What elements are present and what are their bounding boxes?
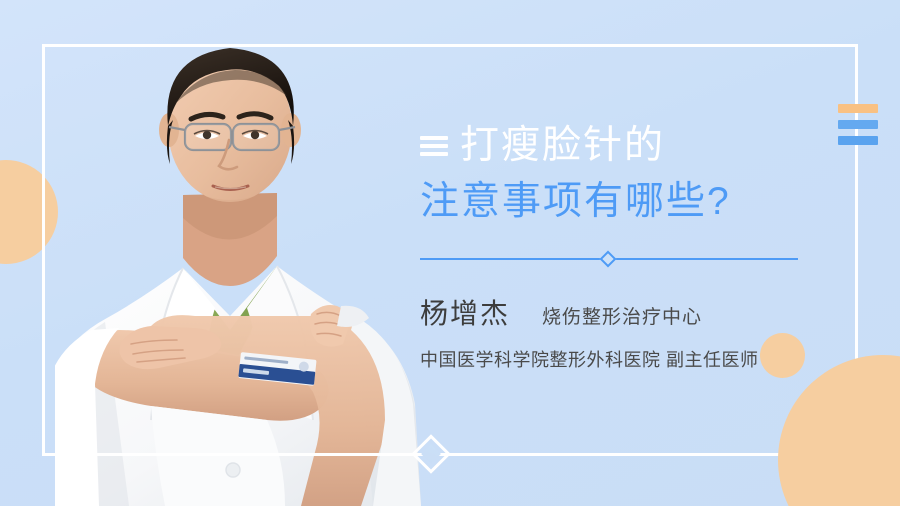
- decor-circle-big-right: [778, 355, 900, 506]
- decor-circle-left: [0, 160, 58, 264]
- doctor-line: 杨增杰 烧伤整形治疗中心: [420, 292, 840, 332]
- doctor-photo: [55, 0, 435, 506]
- hamburger-icon: [420, 135, 448, 157]
- decor-bar-orange: [838, 104, 878, 113]
- divider-diamond-icon: [600, 251, 617, 268]
- title-line-1-text: 打瘦脸针的: [460, 118, 665, 174]
- doctor-name: 杨增杰: [420, 292, 510, 332]
- decor-bar-blue-2: [838, 136, 878, 145]
- poster-canvas: 打瘦脸针的 注意事项有哪些? 杨增杰 烧伤整形治疗中心 中国医学科学院整形外科医…: [0, 0, 900, 506]
- doctor-affiliation: 中国医学科学院整形外科医院 副主任医师: [420, 346, 840, 372]
- decor-bars: [838, 104, 878, 148]
- title-divider: [420, 252, 798, 266]
- title-text-block: 打瘦脸针的 注意事项有哪些? 杨增杰 烧伤整形治疗中心 中国医学科学院整形外科医…: [420, 118, 840, 372]
- decor-bar-blue-1: [838, 120, 878, 129]
- doctor-department: 烧伤整形治疗中心: [542, 302, 702, 329]
- title-line-2: 注意事项有哪些?: [420, 174, 840, 230]
- title-line-1: 打瘦脸针的: [420, 118, 840, 174]
